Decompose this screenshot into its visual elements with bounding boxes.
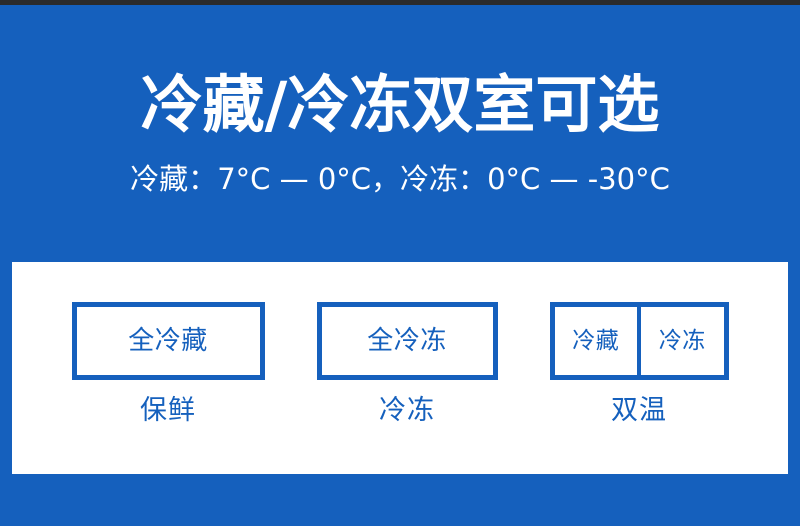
chamber-dual-fridge: 冷藏 [555,307,638,375]
fridge-range-value: 7°C — 0°C [217,162,371,196]
chamber-all-fridge: 全冷藏 [77,307,260,375]
chamber-dual-freezer: 冷冻 [641,307,724,375]
fridge-range-label: 冷藏： [130,162,217,196]
option-all-freezer[interactable]: 全冷冻 冷冻 [317,302,498,424]
option-label-dual-temp: 双温 [611,397,667,424]
fridge-diagram-all-fridge: 全冷藏 [72,302,265,380]
range-separator: ， [371,162,400,196]
chamber-all-freezer: 全冷冻 [322,307,493,375]
options-row: 全冷藏 保鲜 全冷冻 冷冻 冷藏 冷冻 双温 [12,262,788,474]
option-label-all-freezer: 冷冻 [379,397,435,424]
option-label-all-fridge: 保鲜 [140,397,196,424]
promo-banner: 冷藏/冷冻双室可选 冷藏：7°C — 0°C，冷冻：0°C — -30°C 全冷… [0,0,800,526]
temperature-range-subtitle: 冷藏：7°C — 0°C，冷冻：0°C — -30°C [130,162,670,197]
option-all-fridge[interactable]: 全冷藏 保鲜 [72,302,265,424]
options-card: 全冷藏 保鲜 全冷冻 冷冻 冷藏 冷冻 双温 [12,262,788,474]
fridge-diagram-dual-temp: 冷藏 冷冻 [550,302,729,380]
option-dual-temp[interactable]: 冷藏 冷冻 双温 [550,302,729,424]
hero-section: 冷藏/冷冻双室可选 冷藏：7°C — 0°C，冷冻：0°C — -30°C [0,5,800,262]
fridge-diagram-all-freezer: 全冷冻 [317,302,498,380]
page-title: 冷藏/冷冻双室可选 [141,70,660,139]
freezer-range-label: 冷冻： [400,162,487,196]
freezer-range-value: 0°C — -30°C [487,162,670,196]
